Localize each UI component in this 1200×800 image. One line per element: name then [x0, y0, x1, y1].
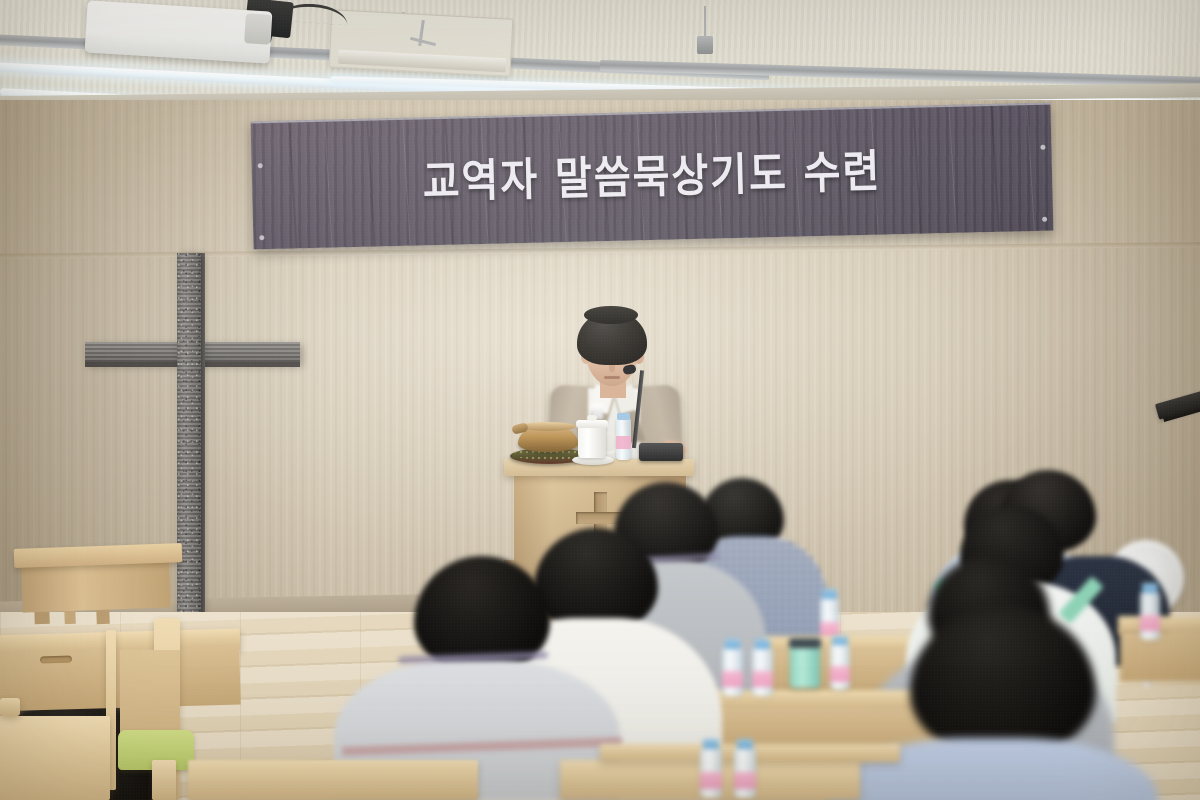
- pew-front-panel: [0, 716, 110, 800]
- speaker-hair-top: [584, 306, 638, 324]
- water-bottle-label: [700, 772, 722, 789]
- water-bottle-cap: [737, 739, 754, 749]
- podium-water-bottle-cap: [617, 413, 630, 420]
- pew-hand-slot: [40, 656, 72, 664]
- pew-seat-frame: [152, 760, 176, 800]
- singing-bowl-rim: [520, 422, 576, 431]
- light-hanger-cap: [697, 36, 713, 54]
- wall-cross-texture: [177, 253, 201, 617]
- water-bottle-cap: [755, 639, 771, 649]
- water-bottle-cap: [822, 589, 836, 599]
- water-bottle: [700, 748, 722, 798]
- water-bottle: [722, 648, 743, 696]
- mug-lid-knob: [587, 415, 597, 421]
- water-bottle: [752, 648, 773, 696]
- photo-scene: 교역자 말씀묵상기도 수련: [0, 0, 1200, 800]
- water-bottle-cap: [703, 739, 720, 749]
- water-bottle: [830, 644, 850, 690]
- speaker-mouth: [604, 376, 620, 379]
- water-bottle-cap: [1142, 583, 1157, 593]
- pew-front-row: [188, 760, 478, 800]
- projector-lens: [244, 13, 272, 45]
- event-banner: 교역자 말씀묵상기도 수련: [251, 103, 1054, 250]
- pew-armrest: [0, 698, 20, 716]
- microphone-base: [639, 443, 683, 461]
- water-bottle-cap: [832, 636, 847, 645]
- water-bottle: [734, 748, 756, 798]
- banner-grommet: [1042, 217, 1047, 222]
- banner-title-text: 교역자 말씀묵상기도 수련: [422, 135, 882, 211]
- water-bottle-label: [722, 671, 743, 687]
- mint-tumbler: [790, 644, 820, 688]
- podium-water-bottle-label: [616, 436, 631, 449]
- mug-lid: [576, 420, 608, 428]
- water-bottle-label: [752, 671, 773, 687]
- water-bottle-label: [830, 666, 850, 682]
- water-bottle-cap: [725, 639, 741, 649]
- altar-table-front: [21, 559, 171, 612]
- banner-grommet: [1040, 145, 1045, 150]
- ceramic-mug: [578, 425, 606, 458]
- banner-grommet: [259, 235, 264, 240]
- pew-back-panel: [1120, 630, 1200, 682]
- mint-tumbler-lid: [789, 638, 821, 648]
- water-bottle-label: [1140, 615, 1160, 631]
- water-bottle-label: [734, 772, 756, 789]
- water-bottle: [1140, 592, 1160, 640]
